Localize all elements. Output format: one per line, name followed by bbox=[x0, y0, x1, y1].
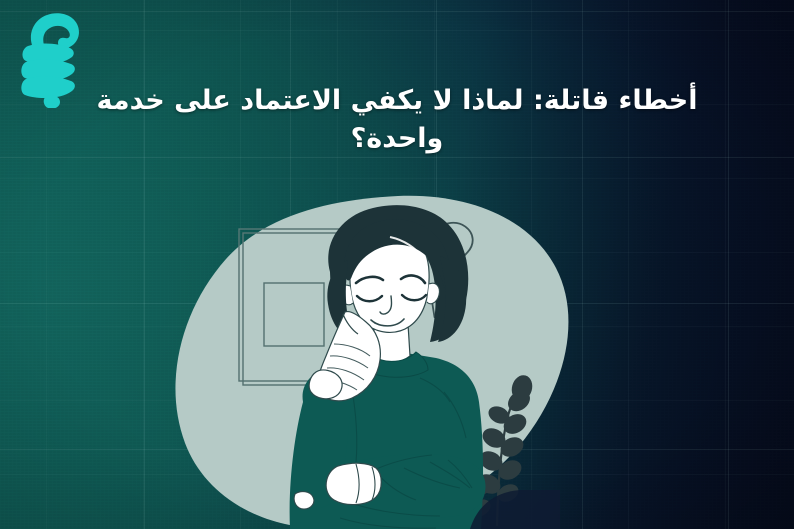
page-title-line-2: واحدة؟ bbox=[351, 123, 444, 154]
woman-cuff-upper bbox=[309, 370, 342, 399]
illustration-artboard bbox=[0, 0, 794, 529]
cover-canvas: أخطاء قاتلة: لماذا لا يكفي الاعتماد على … bbox=[0, 0, 794, 529]
page-title-line-1: أخطاء قاتلة: لماذا لا يكفي الاعتماد على … bbox=[97, 85, 698, 116]
woman-elbow-cuff bbox=[294, 492, 314, 509]
page-title: أخطاء قاتلة: لماذا لا يكفي الاعتماد على … bbox=[0, 82, 794, 159]
